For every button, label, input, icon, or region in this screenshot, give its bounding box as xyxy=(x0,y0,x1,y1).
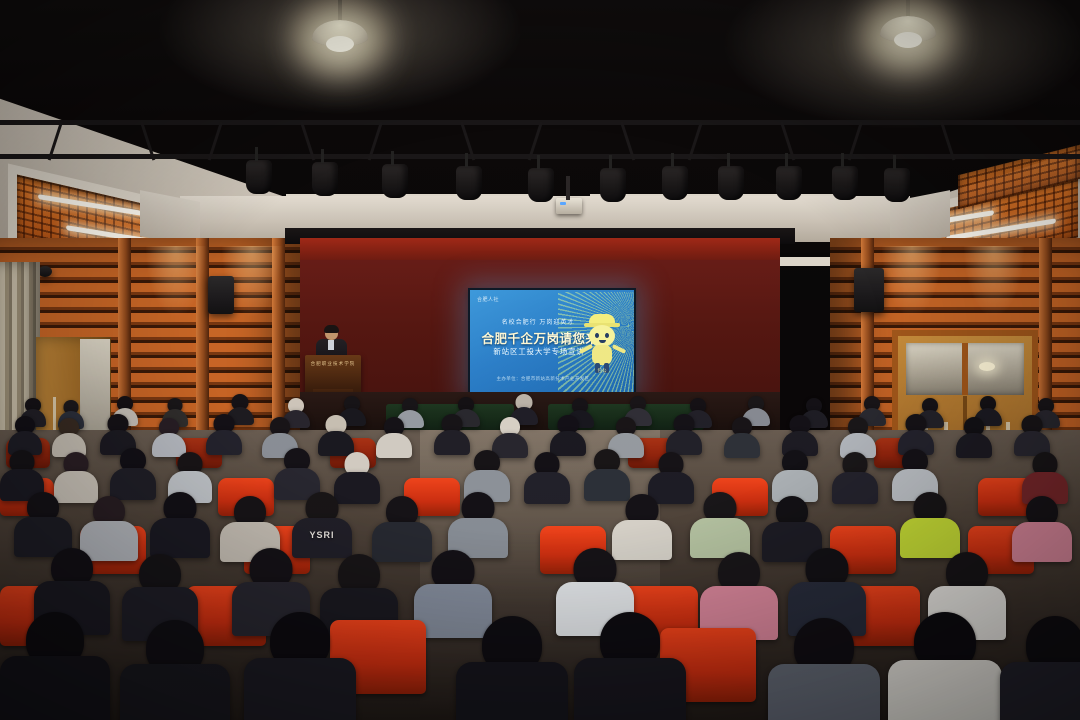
seated-attendee xyxy=(274,448,320,498)
mascot-name-label: 包公 xyxy=(580,368,624,374)
pendant-lamp xyxy=(338,0,342,22)
ceiling-projector xyxy=(556,198,582,214)
stage-par-light xyxy=(884,168,910,202)
seated-attendee xyxy=(584,449,630,499)
garment-print-text: YSRI xyxy=(309,530,334,540)
seated-attendee xyxy=(900,492,960,556)
stage-header-band xyxy=(300,238,780,260)
lighting-truss xyxy=(0,120,1080,166)
projector-indicator xyxy=(560,202,566,205)
seated-attendee xyxy=(898,414,934,454)
seated-attendee xyxy=(8,416,42,454)
seated-attendee xyxy=(1012,496,1072,560)
stage-par-light xyxy=(246,160,272,194)
seated-attendee xyxy=(1014,415,1050,455)
lectern: 合肥职业技术学院 xyxy=(305,355,361,397)
slide-mascot-icon: 包公 xyxy=(580,314,624,376)
seated-attendee xyxy=(768,618,880,720)
seated-attendee xyxy=(110,448,156,498)
seated-attendee xyxy=(448,492,508,556)
slide-corner-logo: 合肥人社 xyxy=(477,296,499,303)
seated-attendee xyxy=(206,414,242,454)
seated-attendee xyxy=(724,417,760,457)
seated-attendee xyxy=(152,418,186,456)
stage-par-light xyxy=(382,164,408,198)
seated-attendee xyxy=(0,612,110,720)
security-camera xyxy=(38,266,52,277)
door-mullion xyxy=(962,343,968,395)
seated-attendee xyxy=(1022,452,1068,502)
seated-attendee xyxy=(524,452,570,502)
seated-attendee xyxy=(888,612,1002,720)
seated-attendee xyxy=(376,417,412,457)
projection-screen: 合肥人社 名校合肥行 万岗迎英才 合肥千企万岗请您来 新站区工投大学专场宣讲 主… xyxy=(468,288,636,396)
seated-attendee xyxy=(1000,616,1080,720)
seated-attendee xyxy=(832,452,878,502)
stage-par-light xyxy=(662,166,688,200)
seated-attendee xyxy=(14,492,72,554)
stage-par-light xyxy=(600,168,626,202)
seated-attendee xyxy=(840,417,876,457)
corridor-lamp xyxy=(979,362,995,371)
seated-attendee xyxy=(956,417,992,457)
seated-attendee xyxy=(772,450,818,500)
stage-par-light xyxy=(832,166,858,200)
seated-attendee xyxy=(318,415,354,455)
seated-attendee xyxy=(690,492,750,556)
wall-mounted-loudspeaker xyxy=(208,276,234,314)
seated-attendee xyxy=(782,415,818,455)
door-glass-panel xyxy=(906,343,1024,395)
seated-attendee xyxy=(666,414,702,454)
stage-par-light xyxy=(528,168,554,202)
stage-par-light xyxy=(456,166,482,200)
projector-mount xyxy=(566,176,570,200)
seated-attendee xyxy=(52,418,86,456)
seated-attendee xyxy=(456,616,568,720)
seated-attendee xyxy=(0,450,44,498)
wall-mounted-loudspeaker xyxy=(854,268,884,312)
seated-attendee xyxy=(120,620,230,720)
stage-par-light xyxy=(312,162,338,196)
seated-attendee xyxy=(700,552,778,638)
seated-attendee: YSRI xyxy=(292,492,352,556)
seated-attendee xyxy=(434,414,470,454)
slide-footer-text: 主办单位：合肥市新站高新技术产业开发区 xyxy=(470,376,616,382)
pendant-lamp xyxy=(906,0,910,18)
auditorium-scene: 合肥人社 名校合肥行 万岗迎英才 合肥千企万岗请您来 新站区工投大学专场宣讲 主… xyxy=(0,0,1080,720)
seated-attendee xyxy=(550,415,586,455)
seated-attendee xyxy=(244,612,356,720)
seated-attendee xyxy=(574,612,686,720)
stage-par-light xyxy=(718,166,744,200)
stage-par-light xyxy=(776,166,802,200)
seated-attendee xyxy=(150,492,210,556)
lectern-name-plate: 合肥职业技术学院 xyxy=(309,361,357,367)
